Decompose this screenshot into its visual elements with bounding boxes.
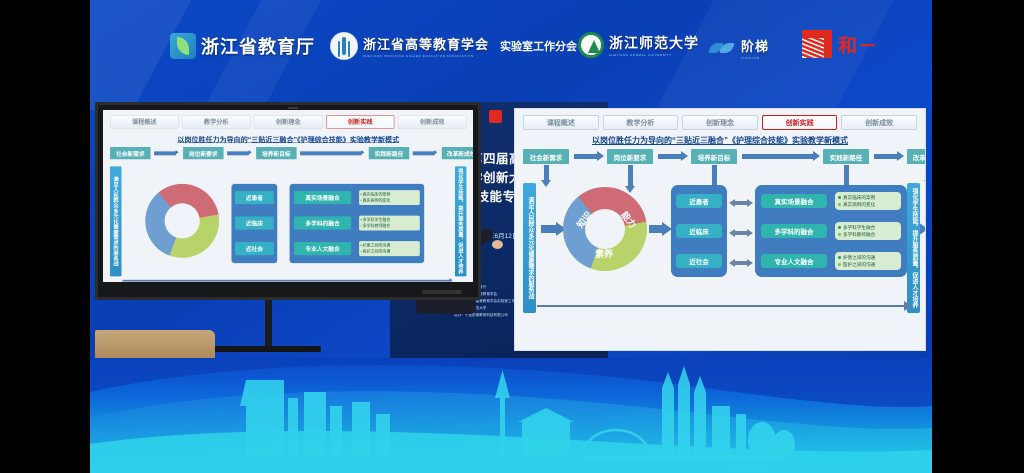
association-emblem-icon bbox=[330, 32, 358, 60]
mirror-tab: 创新理念 bbox=[254, 115, 322, 128]
mirror-flow-step: 培养新目标 bbox=[256, 147, 296, 159]
logo-jieti-funglab: 阶梯 FUNGLAB bbox=[710, 36, 769, 60]
skyline-svg bbox=[90, 358, 932, 473]
detail-line: 医护之间的沟通 bbox=[838, 261, 898, 268]
monitor-stand-base bbox=[211, 346, 321, 352]
slide-tab-list[interactable]: 课程概述 教学分析 创新理念 创新实践 创新成效 bbox=[523, 115, 917, 130]
webcam-icon bbox=[288, 107, 298, 109]
cycle-in-arrow bbox=[541, 225, 557, 233]
mirror-near-item: 近社会 bbox=[235, 242, 274, 255]
mirror-near-panel: 近患者 近临床 近社会 bbox=[231, 184, 277, 263]
mirror-flow-step: 改革新成效 bbox=[442, 147, 473, 159]
mirror-flow-row: 社会新需求 岗位新要求 培养新目标 实践新路径 改革新成效 bbox=[110, 147, 466, 160]
mirror-tab-list: 课程概述 教学分析 创新理念 创新实践 创新成效 bbox=[110, 115, 466, 128]
monitor-bezel: 课程概述 教学分析 创新理念 创新实践 创新成效 以岗位胜任力为导向的“三贴近三… bbox=[95, 102, 481, 300]
logo-hezhong: 和－ bbox=[802, 30, 878, 58]
mirror-fusion-panel: 真实场景融合 多学科的融合 专业人文融合 真实临床的案例 真实病例的变化 多学科… bbox=[290, 184, 425, 263]
mirror-flow-arrow bbox=[413, 151, 435, 155]
mirror-flow-arrow bbox=[154, 151, 176, 155]
mirror-detail-group: 护患之间的沟通 医护之间的沟通 bbox=[359, 241, 420, 256]
competency-cycle: 知识 能力 素养 bbox=[563, 187, 647, 271]
logo-label: 浙江省教育厅 bbox=[201, 33, 315, 59]
process-flow-row: 社会新需求 岗位新要求 培养新目标 实践新路径 改革新成效 bbox=[523, 149, 917, 165]
mirror-cycle bbox=[145, 184, 219, 258]
mirror-bottom-arrow bbox=[122, 280, 449, 282]
mirror-near-item: 近临床 bbox=[235, 216, 274, 229]
flow-arrow bbox=[574, 154, 598, 159]
flow-arrow bbox=[742, 154, 814, 159]
red-brush-mark-icon bbox=[802, 30, 832, 58]
mirror-flow-step: 社会新需求 bbox=[110, 147, 150, 159]
down-arrow bbox=[628, 165, 633, 187]
tab-teaching-analysis[interactable]: 教学分析 bbox=[603, 115, 679, 130]
mirror-detail-line: 多学科教师融合 bbox=[360, 223, 418, 229]
mirror-flow-arrow bbox=[227, 151, 249, 155]
mirror-flow-step: 实践新路径 bbox=[369, 147, 409, 159]
detail-group-cases: 真实临床的案例 真实病例的变化 bbox=[835, 192, 901, 210]
bottom-flow-arrow bbox=[537, 305, 905, 307]
city-skyline-graphic bbox=[90, 358, 932, 473]
mirror-fusion-item: 真实场景融合 bbox=[294, 191, 351, 204]
mirror-tab-active: 创新实践 bbox=[326, 115, 394, 128]
near-item-society: 近社会 bbox=[676, 254, 722, 268]
down-arrow bbox=[544, 165, 549, 181]
slide-panel: 课程概述 教学分析 创新理念 创新实践 创新成效 以岗位胜任力为导向的“三贴近三… bbox=[514, 108, 926, 351]
logo-subtitle-en: ZHEJIANG PROVINCE HIGHER EDUCATION ASSOC… bbox=[363, 54, 489, 58]
detail-line: 多学科学生融合 bbox=[838, 224, 898, 231]
logo-zhejiang-normal-university: 浙江师范大学 ZHEJIANG NORMAL UNIVERSITY bbox=[578, 32, 699, 58]
mirror-detail-group: 真实临床的案例 真实病例的变化 bbox=[359, 190, 420, 205]
monitor-stand bbox=[265, 300, 272, 348]
banner-logo-icon bbox=[489, 110, 502, 123]
tab-innovation-concept[interactable]: 创新理念 bbox=[682, 115, 758, 130]
monitor-screen: 课程概述 教学分析 创新理念 创新实践 创新成效 以岗位胜任力为导向的“三贴近三… bbox=[103, 110, 473, 282]
tab-course-overview[interactable]: 课程概述 bbox=[523, 115, 599, 130]
logo-label: 浙江师范大学 bbox=[609, 35, 699, 51]
detail-group-multidiscipline: 多学科学生融合 多学科教师融合 bbox=[835, 222, 901, 240]
logo-label: 阶梯 bbox=[741, 39, 769, 54]
logo-label: 浙江省高等教育学会 bbox=[363, 37, 489, 52]
funglab-wave-icon bbox=[710, 39, 736, 57]
mirror-fusion-item: 专业人文融合 bbox=[294, 242, 351, 255]
detail-line: 护患之间的沟通 bbox=[838, 254, 898, 261]
left-vertical-label: 满足人民群众多元化健康需求的服务战 bbox=[523, 183, 536, 313]
link-arrow bbox=[734, 201, 748, 205]
presentation-monitor: 课程概述 教学分析 创新理念 创新实践 创新成效 以岗位胜任力为导向的“三贴近三… bbox=[95, 102, 481, 357]
logo-higher-education-association: 浙江省高等教育学会 ZHEJIANG PROVINCE HIGHER EDUCA… bbox=[330, 32, 577, 60]
fusion-group-panel: 真实场景融合 多学科的融合 专业人文融合 真实临床的案例 真实病例的变化 多学科… bbox=[755, 185, 907, 277]
mirror-flow-arrow bbox=[300, 151, 362, 155]
mirror-left-vertical-label: 满足人民群众多元化健康需求的服务战 bbox=[110, 166, 121, 276]
cycle-label-literacy: 素养 bbox=[595, 247, 613, 260]
detail-group-communication: 护患之间的沟通 医护之间的沟通 bbox=[835, 252, 901, 270]
flow-arrow bbox=[874, 154, 898, 159]
mirror-tab: 课程概述 bbox=[110, 115, 178, 128]
mirror-near-item: 近患者 bbox=[235, 191, 274, 204]
flow-step-reform-results: 改革新成效 bbox=[907, 149, 926, 164]
right-vertical-label: 强化学生技能，提升服务质量，促进人才培养 bbox=[907, 183, 920, 313]
monitor-brand-strip bbox=[422, 290, 462, 294]
video-frame: 浙江省教育厅 浙江省高等教育学会 ZHEJIANG PROVINCE HIGHE… bbox=[0, 0, 1024, 473]
sponsor-logo-bar: 浙江省教育厅 浙江省高等教育学会 ZHEJIANG PROVINCE HIGHE… bbox=[90, 0, 932, 96]
fusion-item-multidiscipline: 多学科的融合 bbox=[761, 224, 827, 238]
mirror-detail-group: 多学科学生融合 多学科教师融合 bbox=[359, 216, 420, 231]
mirror-tab: 教学分析 bbox=[182, 115, 250, 128]
mirror-detail-line: 真实病例的变化 bbox=[360, 197, 418, 203]
detail-line: 多学科教师融合 bbox=[838, 231, 898, 238]
logo-label: 和－ bbox=[838, 31, 878, 58]
cycle-out-arrow bbox=[649, 225, 663, 233]
down-arrow bbox=[844, 165, 849, 187]
link-arrow bbox=[734, 231, 748, 235]
tab-innovation-results[interactable]: 创新成效 bbox=[841, 115, 917, 130]
near-group-panel: 近患者 近临床 近社会 bbox=[671, 185, 727, 277]
mirror-fusion-item: 多学科的融合 bbox=[294, 216, 351, 229]
mirror-slide-title: 以岗位胜任力为导向的“三贴近三融合”《护理综合技能》实验教学新模式 bbox=[103, 134, 473, 145]
logo-branch-label: 实验室工作分会 bbox=[500, 38, 577, 54]
detail-line: 真实病例的变化 bbox=[838, 201, 898, 208]
presenter-right-hand bbox=[492, 240, 503, 249]
flow-step-practice-path: 实践新路径 bbox=[823, 149, 869, 164]
down-arrow bbox=[712, 165, 717, 187]
near-item-clinic: 近临床 bbox=[676, 224, 722, 238]
flow-step-social-demand: 社会新需求 bbox=[523, 149, 569, 164]
slide-title: 以岗位胜任力为导向的“三贴近三融合”《护理综合技能》实验教学新模式 bbox=[515, 135, 925, 146]
logo-zhejiang-education-department: 浙江省教育厅 bbox=[170, 33, 315, 59]
mirrored-slide: 课程概述 教学分析 创新理念 创新实践 创新成效 以岗位胜任力为导向的“三贴近三… bbox=[103, 110, 473, 282]
flow-arrow bbox=[658, 154, 682, 159]
mirror-right-vertical-label: 强化学生技能，提升服务质量，促进人才培养 bbox=[455, 166, 466, 276]
detail-line: 真实临床的案例 bbox=[838, 194, 898, 201]
stage-backdrop: 浙江省教育厅 浙江省高等教育学会 ZHEJIANG PROVINCE HIGHE… bbox=[90, 0, 932, 473]
logo-subtitle-en: ZHEJIANG NORMAL UNIVERSITY bbox=[609, 53, 699, 57]
flow-step-training-goal: 培养新目标 bbox=[691, 149, 737, 164]
fusion-item-humanities: 专业人文融合 bbox=[761, 254, 827, 268]
mirror-flow-step: 岗位新要求 bbox=[183, 147, 223, 159]
tab-innovation-practice[interactable]: 创新实践 bbox=[762, 115, 838, 130]
link-arrow bbox=[734, 261, 748, 265]
mirror-detail-line: 医护之间的沟通 bbox=[360, 248, 418, 254]
mirror-cycle-hole bbox=[165, 203, 200, 238]
university-crest-icon bbox=[578, 32, 604, 58]
logo-subtitle-en: FUNGLAB bbox=[741, 56, 769, 60]
mirror-tab: 创新成效 bbox=[398, 115, 466, 128]
leaf-book-icon bbox=[170, 33, 196, 59]
fusion-item-real-scene: 真实场景融合 bbox=[761, 194, 827, 208]
near-item-patient: 近患者 bbox=[676, 194, 722, 208]
flow-step-job-requirement: 岗位新要求 bbox=[607, 149, 653, 164]
